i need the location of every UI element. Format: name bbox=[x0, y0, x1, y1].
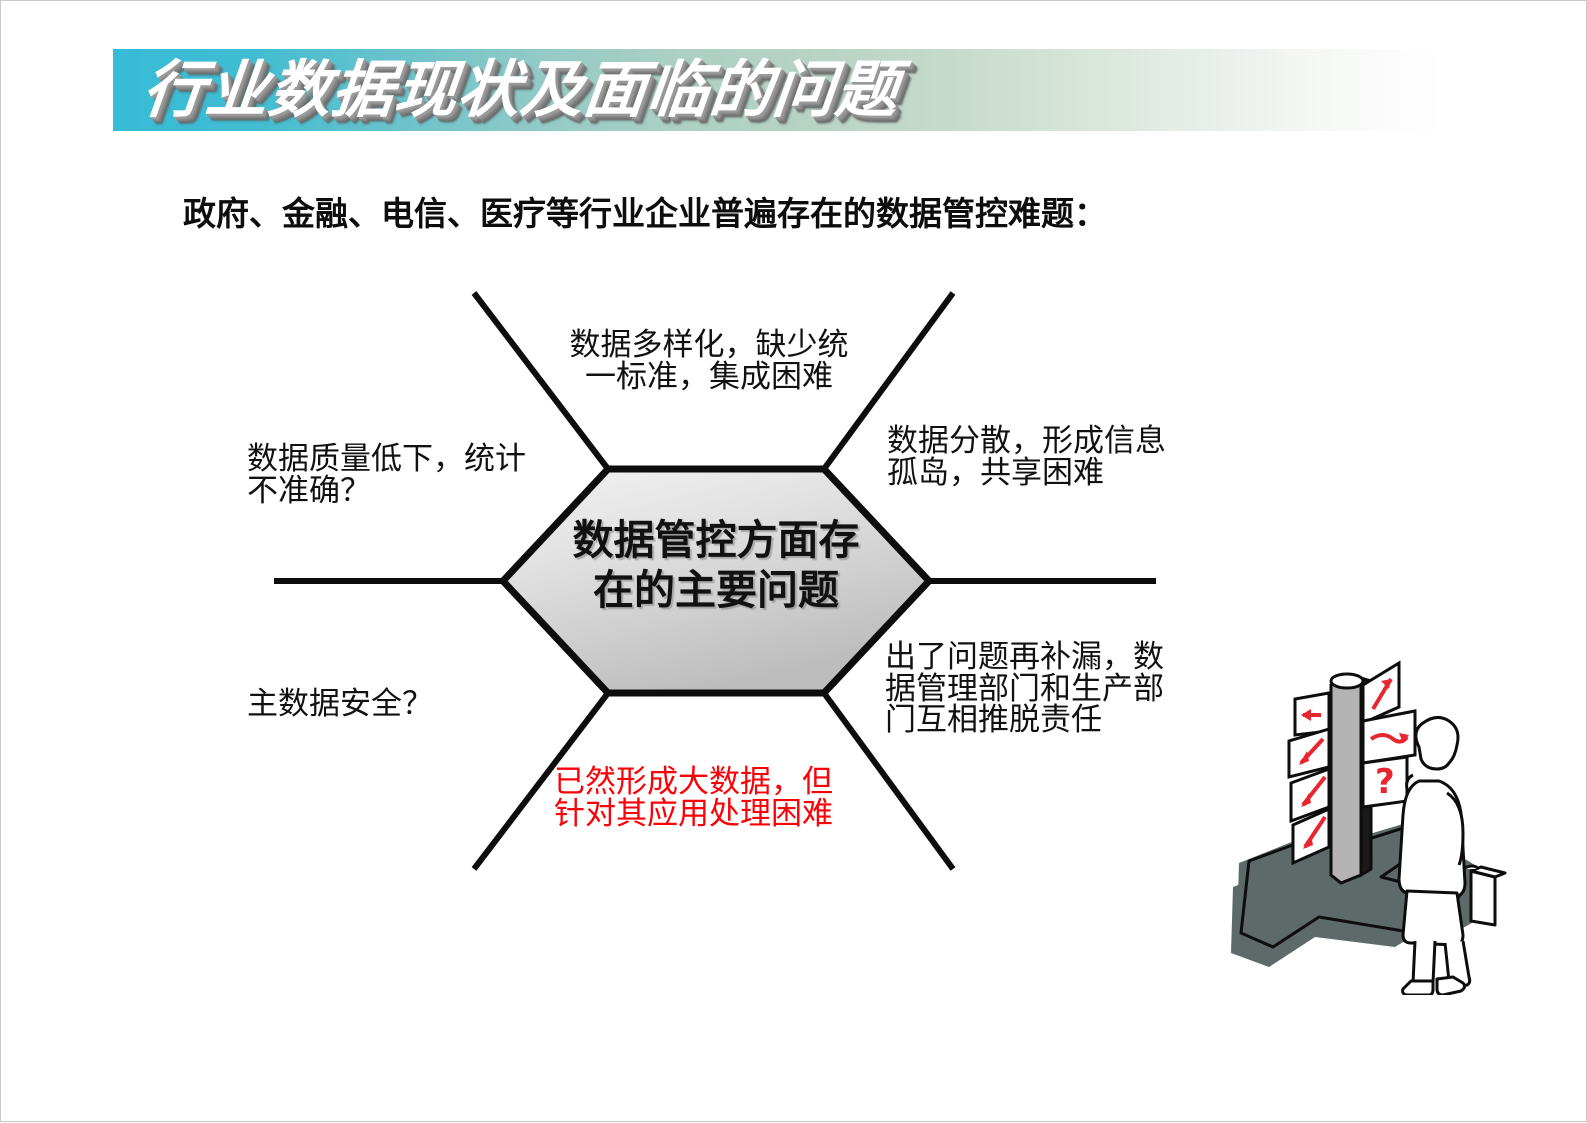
signpost-illustration: ? bbox=[1223, 625, 1559, 995]
question-mark-icon: ? bbox=[1375, 762, 1395, 802]
branch-label-top: 数据多样化，缺少统 一标准，集成困难 bbox=[544, 330, 874, 393]
hexagon-center-label: 数据管控方面存 在的主要问题 bbox=[520, 515, 912, 615]
branch-label-upper-left: 数据质量低下，统计 不准确？ bbox=[247, 444, 587, 507]
person-figure-icon bbox=[1399, 717, 1505, 995]
slide-canvas: 行业数据现状及面临的问题 政府、金融、电信、医疗等行业企业普遍存在的数据管控难题… bbox=[0, 0, 1587, 1122]
branch-label-bottom: 已然形成大数据，但 针对其应用处理困难 bbox=[554, 767, 884, 830]
page-title: 行业数据现状及面临的问题 bbox=[139, 51, 903, 129]
branch-label-lower-right: 出了问题再补漏，数 据管理部门和生产部 门互相推脱责任 bbox=[885, 642, 1215, 737]
subtitle-text: 政府、金融、电信、医疗等行业企业普遍存在的数据管控难题： bbox=[183, 187, 1107, 235]
title-banner: 行业数据现状及面临的问题 bbox=[113, 49, 1443, 131]
branch-label-upper-right: 数据分散，形成信息 孤岛，共享困难 bbox=[887, 426, 1217, 489]
branch-label-lower-left: 主数据安全？ bbox=[247, 689, 577, 721]
